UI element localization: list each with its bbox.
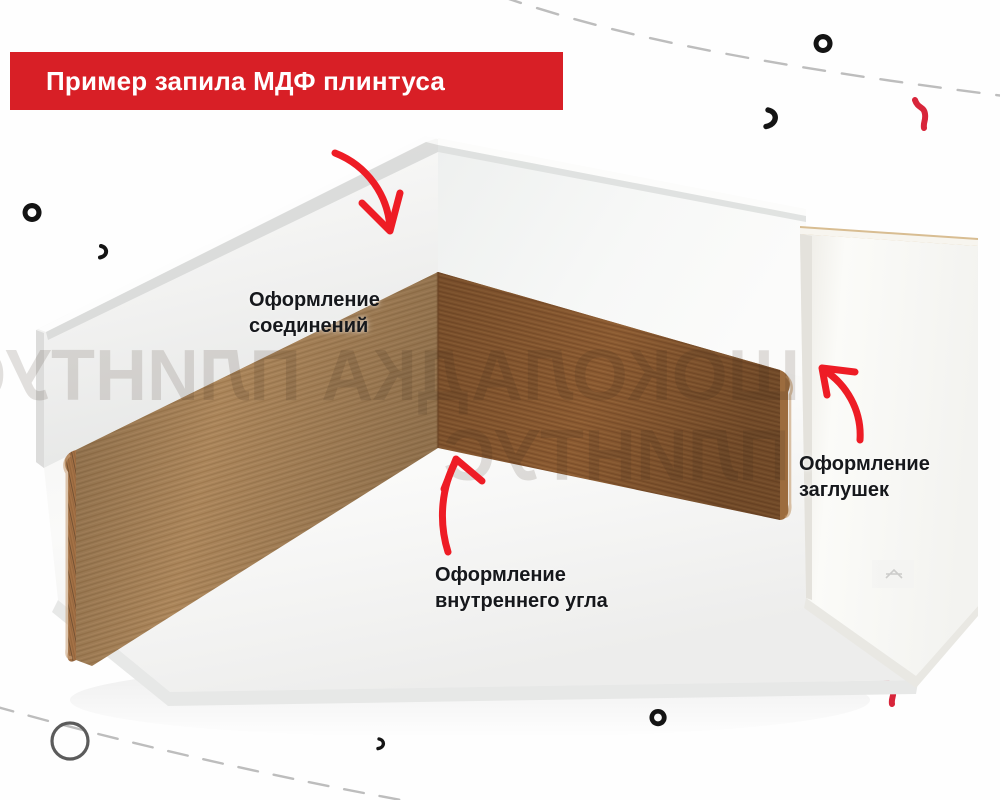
label-joints: Оформление соединений (249, 288, 380, 339)
title-banner: Пример запила МДФ плинтуса (10, 52, 563, 110)
label-inner-corner: Оформление внутреннего угла (435, 563, 608, 614)
screenshot-canvas: ШОКОЛАДКА ПЛИНТУС ПЛИНТУС (0, 0, 1000, 800)
banner-title-text: Пример запила МДФ плинтуса (46, 68, 445, 94)
svg-text:ШОКОЛАДКА ПЛИНТУС: ШОКОЛАДКА ПЛИНТУС (0, 336, 800, 416)
skirting-corner-illustration: ШОКОЛАДКА ПЛИНТУС ПЛИНТУС (0, 0, 1000, 800)
svg-text:ПЛИНТУС: ПЛИНТУС (443, 416, 790, 496)
floor-logo-stamp (872, 560, 914, 588)
label-end-caps: Оформление заглушек (799, 452, 930, 503)
